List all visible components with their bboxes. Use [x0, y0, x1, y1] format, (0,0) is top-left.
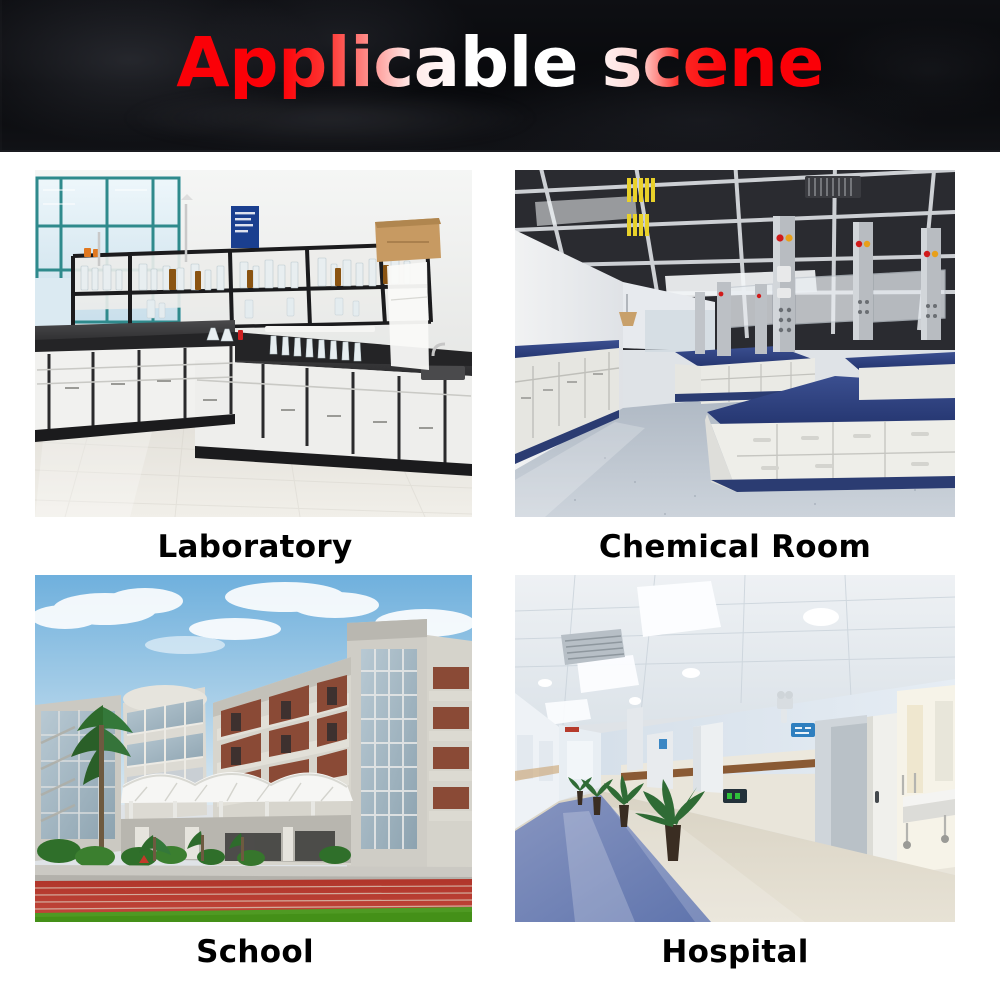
- scene-grid: Laboratory: [35, 170, 955, 970]
- header-banner: Applicable scene: [0, 0, 1000, 152]
- scene-label-chemical-room: Chemical Room: [515, 529, 955, 565]
- scene-card-school[interactable]: School: [35, 575, 475, 970]
- scene-card-hospital[interactable]: Hospital: [515, 575, 955, 970]
- scene-card-laboratory[interactable]: Laboratory: [35, 170, 475, 565]
- banner-bottom-edge: [0, 150, 1000, 152]
- applicable-scene-page: Applicable scene: [0, 0, 1000, 1000]
- page-title: Applicable scene: [0, 27, 1000, 99]
- scene-card-chemical-room[interactable]: Chemical Room: [515, 170, 955, 565]
- hospital-photo: [515, 575, 955, 922]
- laboratory-photo: [35, 170, 472, 517]
- scene-label-laboratory: Laboratory: [35, 529, 475, 565]
- scene-label-school: School: [35, 934, 475, 970]
- chemical-room-photo: [515, 170, 955, 517]
- scene-label-hospital: Hospital: [515, 934, 955, 970]
- school-photo: [35, 575, 472, 922]
